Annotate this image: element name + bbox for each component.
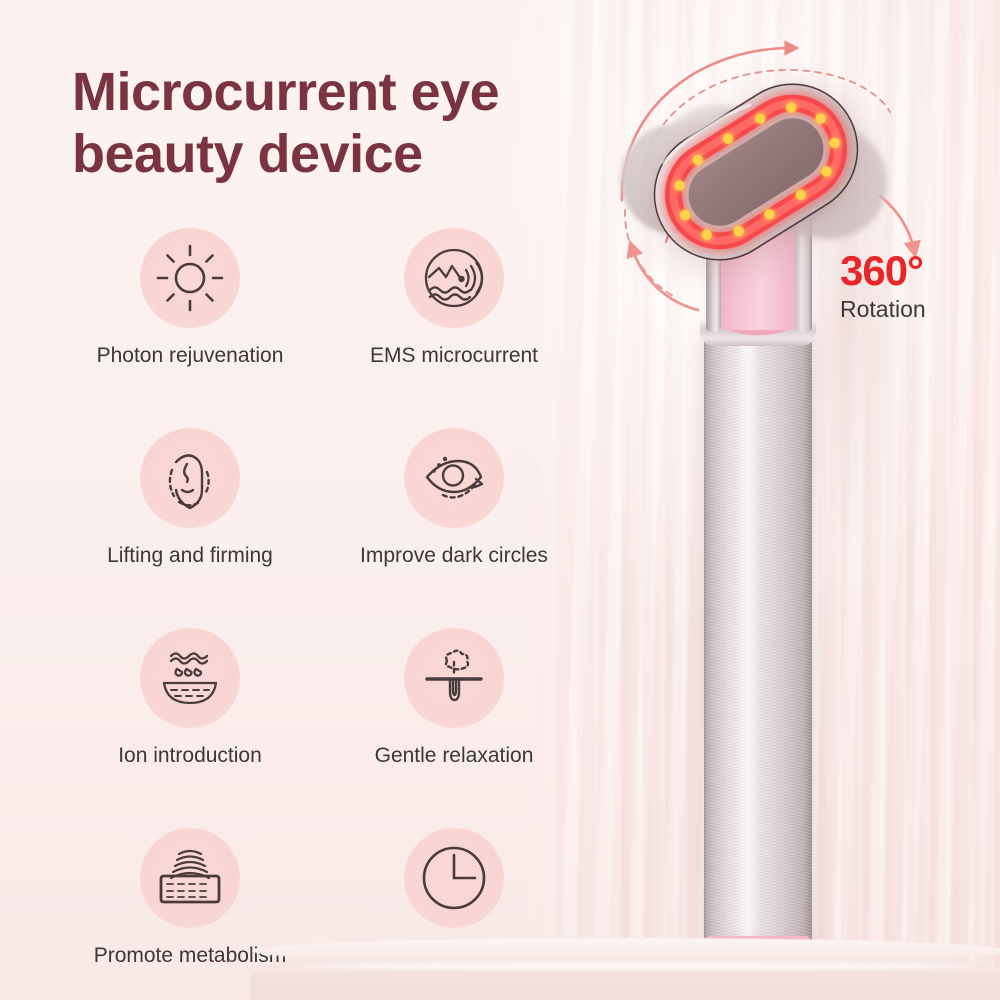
water-drops-icon (140, 628, 240, 728)
feature-item-photon-rejuvenation: Photon rejuvenation (62, 228, 318, 368)
face-profile-icon (140, 428, 240, 528)
skin-waves-icon (140, 828, 240, 928)
sun-icon (140, 228, 240, 328)
feature-item-gentle-relaxation: Gentle relaxation (326, 628, 582, 768)
feature-item-ion-introduction: Ion introduction (62, 628, 318, 768)
feature-item-lifting-and-firming: Lifting and firming (62, 428, 318, 568)
feature-label: EMS microcurrent (370, 344, 538, 368)
feature-item-ems-microcurrent: EMS microcurrent (326, 228, 582, 368)
page-title-line-2: beauty device (72, 124, 632, 186)
product-marketing-image: Microcurrent eye beauty device Photon (0, 0, 1000, 1000)
feature-label: Gentle relaxation (375, 744, 534, 768)
feature-list: Photon rejuvenation EMS microcurrent (62, 228, 582, 968)
rotation-degrees: 360° (840, 250, 926, 292)
display-podium-highlight (300, 962, 980, 970)
rotation-caption: Rotation (840, 298, 926, 321)
page-title-line-1: Microcurrent eye (72, 62, 632, 124)
hair-follicle-icon (404, 628, 504, 728)
feature-item-improve-dark-circles: Improve dark circles (326, 428, 582, 568)
feature-label: Ion introduction (118, 744, 262, 768)
wave-signal-icon (404, 228, 504, 328)
feature-label: Lifting and firming (107, 544, 273, 568)
display-podium-surface (252, 938, 1000, 964)
device-soft-shadow (815, 60, 965, 700)
feature-label: Improve dark circles (360, 544, 548, 568)
feature-label: Photon rejuvenation (97, 344, 284, 368)
page-title: Microcurrent eye beauty device (72, 62, 632, 185)
feature-label: Promote metabolism (94, 944, 287, 968)
clock-icon (404, 828, 504, 928)
rotation-badge: 360° Rotation (840, 250, 926, 321)
eye-icon (404, 428, 504, 528)
